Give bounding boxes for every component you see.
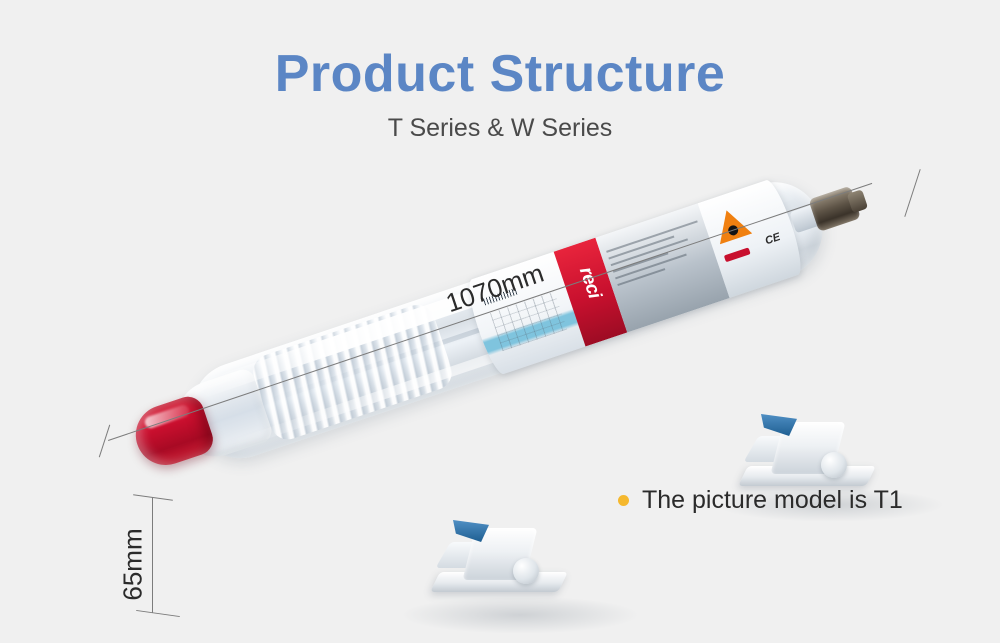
model-note: The picture model is T1 bbox=[618, 486, 903, 515]
diameter-dimension-tick-bottom bbox=[136, 610, 180, 617]
page-subtitle: T Series & W Series bbox=[0, 114, 1000, 143]
bracket-thumbscrew-knob bbox=[513, 558, 539, 584]
length-dimension-tick-left bbox=[99, 425, 110, 458]
length-dimension-tick-right bbox=[904, 169, 920, 217]
diameter-dimension-label: 65mm bbox=[118, 528, 149, 600]
product-structure-figure: Product Structure T Series & W Series re… bbox=[0, 0, 1000, 643]
page-title: Product Structure bbox=[0, 44, 1000, 104]
diameter-dimension-line bbox=[152, 497, 153, 613]
bracket-thumbscrew-knob bbox=[821, 452, 847, 478]
model-note-text: The picture model is T1 bbox=[642, 486, 903, 515]
bullet-icon bbox=[618, 495, 629, 506]
contact-shadow-left bbox=[400, 596, 640, 634]
